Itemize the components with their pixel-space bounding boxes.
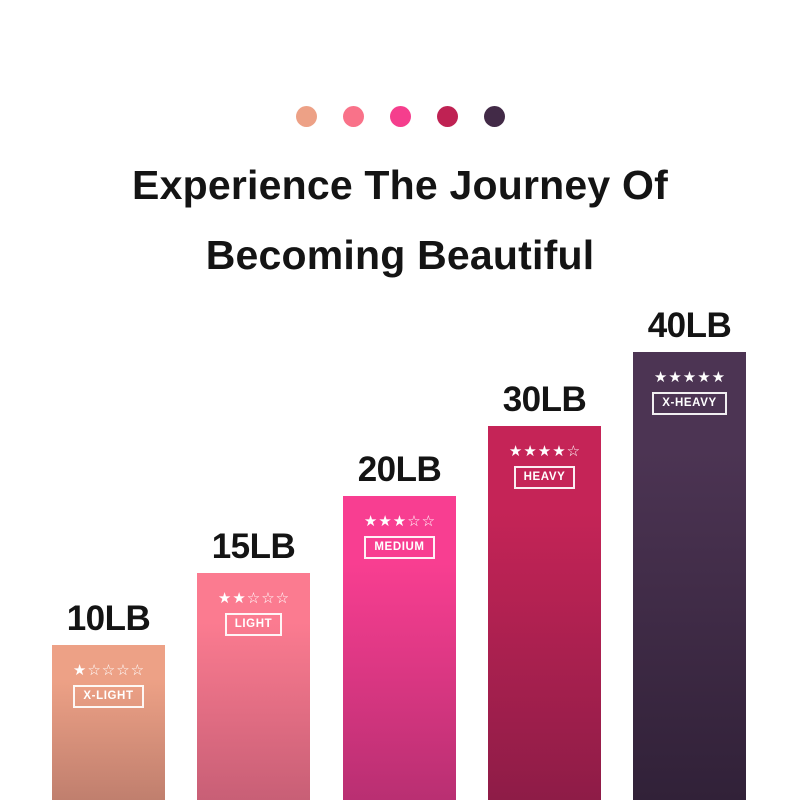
star-filled-icon: ★: [552, 444, 565, 459]
star-filled-icon: ★: [509, 444, 522, 459]
bar-fill-15lb: ★★☆☆☆LIGHT: [197, 573, 310, 800]
resistance-band-bar-chart: 10LB★☆☆☆☆X-LIGHT15LB★★☆☆☆LIGHT20LB★★★☆☆M…: [0, 0, 800, 800]
star-filled-icon: ★: [364, 514, 377, 529]
bar-weight-label-30lb: 30LB: [503, 380, 587, 420]
star-filled-icon: ★: [683, 370, 696, 385]
star-rating-15lb: ★★☆☆☆: [218, 591, 289, 606]
star-empty-icon: ☆: [422, 514, 435, 529]
star-rating-20lb: ★★★☆☆: [364, 514, 435, 529]
star-empty-icon: ☆: [276, 591, 289, 606]
bar-fill-30lb: ★★★★☆HEAVY: [488, 426, 601, 800]
bar-badge-20lb: ★★★☆☆MEDIUM: [343, 514, 456, 559]
bar-weight-label-15lb: 15LB: [212, 527, 296, 567]
bar-fill-10lb: ★☆☆☆☆X-LIGHT: [52, 645, 165, 800]
bar-fill-40lb: ★★★★★X-HEAVY: [633, 352, 746, 800]
star-empty-icon: ☆: [102, 663, 115, 678]
star-filled-icon: ★: [523, 444, 536, 459]
bar-weight-label-40lb: 40LB: [648, 306, 732, 346]
star-filled-icon: ★: [712, 370, 725, 385]
bar-group-20lb[interactable]: 20LB★★★☆☆MEDIUM: [343, 496, 456, 800]
star-filled-icon: ★: [232, 591, 245, 606]
star-filled-icon: ★: [73, 663, 86, 678]
star-empty-icon: ☆: [247, 591, 260, 606]
bar-group-10lb[interactable]: 10LB★☆☆☆☆X-LIGHT: [52, 645, 165, 800]
star-filled-icon: ★: [393, 514, 406, 529]
tier-label-15lb: LIGHT: [225, 613, 283, 636]
bar-badge-15lb: ★★☆☆☆LIGHT: [197, 591, 310, 636]
star-filled-icon: ★: [668, 370, 681, 385]
tier-label-40lb: X-HEAVY: [652, 392, 726, 415]
star-filled-icon: ★: [654, 370, 667, 385]
bar-group-30lb[interactable]: 30LB★★★★☆HEAVY: [488, 426, 601, 800]
star-filled-icon: ★: [538, 444, 551, 459]
bar-weight-label-10lb: 10LB: [67, 599, 151, 639]
star-rating-10lb: ★☆☆☆☆: [73, 663, 144, 678]
star-empty-icon: ☆: [261, 591, 274, 606]
bar-group-15lb[interactable]: 15LB★★☆☆☆LIGHT: [197, 573, 310, 800]
star-filled-icon: ★: [218, 591, 231, 606]
bar-badge-10lb: ★☆☆☆☆X-LIGHT: [52, 663, 165, 708]
star-empty-icon: ☆: [131, 663, 144, 678]
tier-label-10lb: X-LIGHT: [73, 685, 143, 708]
star-empty-icon: ☆: [87, 663, 100, 678]
bar-badge-30lb: ★★★★☆HEAVY: [488, 444, 601, 489]
star-empty-icon: ☆: [567, 444, 580, 459]
star-rating-30lb: ★★★★☆: [509, 444, 580, 459]
tier-label-20lb: MEDIUM: [364, 536, 434, 559]
bar-fill-20lb: ★★★☆☆MEDIUM: [343, 496, 456, 800]
bar-weight-label-20lb: 20LB: [358, 450, 442, 490]
star-filled-icon: ★: [697, 370, 710, 385]
bar-badge-40lb: ★★★★★X-HEAVY: [633, 370, 746, 415]
product-infographic: Experience The Journey Of Becoming Beaut…: [0, 0, 800, 800]
star-empty-icon: ☆: [407, 514, 420, 529]
star-rating-40lb: ★★★★★: [654, 370, 725, 385]
bar-group-40lb[interactable]: 40LB★★★★★X-HEAVY: [633, 352, 746, 800]
star-filled-icon: ★: [378, 514, 391, 529]
tier-label-30lb: HEAVY: [514, 466, 576, 489]
star-empty-icon: ☆: [116, 663, 129, 678]
